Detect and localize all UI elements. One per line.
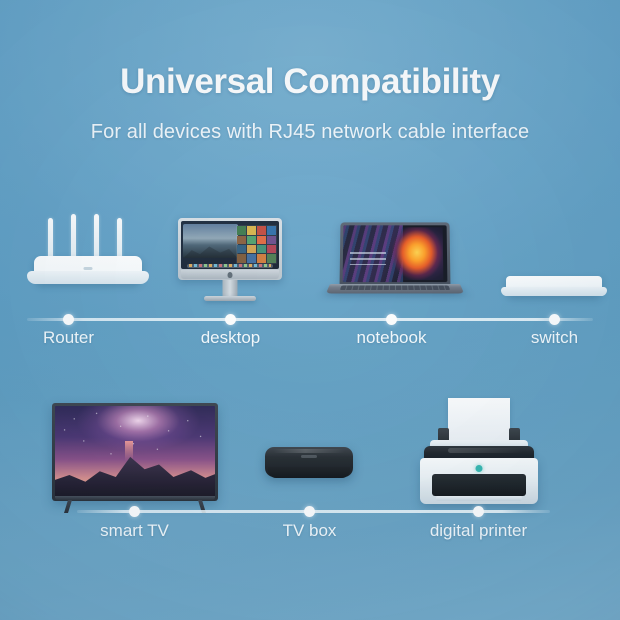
printer-output-tray: [436, 496, 522, 501]
timeline-dot-digital-printer: [473, 506, 484, 517]
printer-output-slot: [432, 474, 526, 496]
device-desktop: [178, 218, 282, 302]
printer-body: [420, 458, 538, 504]
device-label-switch: switch: [486, 328, 620, 348]
device-notebook: [330, 222, 460, 304]
device-label-smart-tv: smart TV: [66, 521, 203, 541]
laptop-screen: [343, 225, 448, 282]
timeline-dot-desktop: [225, 314, 236, 325]
laptop-screen-text: [350, 252, 385, 265]
printer-paper: [448, 398, 510, 442]
printer-power-button[interactable]: [476, 465, 483, 472]
device-label-notebook: notebook: [323, 328, 460, 348]
device-router: [34, 222, 142, 284]
device-tv-box: [265, 447, 353, 479]
timeline-dot-smart-tv: [129, 506, 140, 517]
tv-box-logo-icon: [301, 455, 317, 458]
timeline-rail-row-1: [27, 318, 593, 321]
monitor-screen: [181, 221, 279, 269]
tv-leg-left: [64, 500, 72, 513]
device-label-router: Router: [0, 328, 137, 348]
switch-body: [506, 276, 602, 296]
tv-box-body: [265, 447, 353, 477]
router-led-icon: [84, 267, 93, 270]
device-label-desktop: desktop: [162, 328, 299, 348]
monitor-photo-grid: [236, 225, 277, 263]
laptop-lid: [340, 222, 451, 285]
timeline-dot-router: [63, 314, 74, 325]
timeline-dot-notebook: [386, 314, 397, 325]
device-label-digital-printer: digital printer: [410, 521, 547, 541]
device-switch: [506, 276, 602, 298]
router-body: [34, 256, 142, 284]
monitor-bezel: [178, 218, 282, 280]
tv-bottom-bar: [55, 496, 215, 500]
page-title: Universal Compatibility: [0, 62, 620, 102]
timeline-dot-tv-box: [304, 506, 315, 517]
monitor-stand-neck: [223, 280, 238, 297]
tv-box-highlight: [273, 449, 345, 453]
monitor-dock: [187, 264, 273, 268]
laptop-wallpaper-swirl: [378, 228, 443, 280]
apple-logo-icon: [228, 272, 233, 278]
monitor-stand-base: [204, 296, 256, 301]
laptop-base: [326, 284, 464, 294]
device-smart-tv: [52, 403, 218, 513]
timeline-dot-switch: [549, 314, 560, 325]
page-subtitle: For all devices with RJ45 network cable …: [0, 121, 620, 144]
laptop-keyboard: [339, 286, 450, 291]
compatibility-poster: Universal Compatibility For all devices …: [0, 0, 620, 620]
router-antenna-icon: [71, 214, 76, 262]
tv-screen: [55, 406, 215, 498]
device-label-tv-box: TV box: [241, 521, 378, 541]
device-printer: [420, 398, 538, 506]
tv-frame: [52, 403, 218, 501]
router-antenna-icon: [94, 214, 99, 262]
